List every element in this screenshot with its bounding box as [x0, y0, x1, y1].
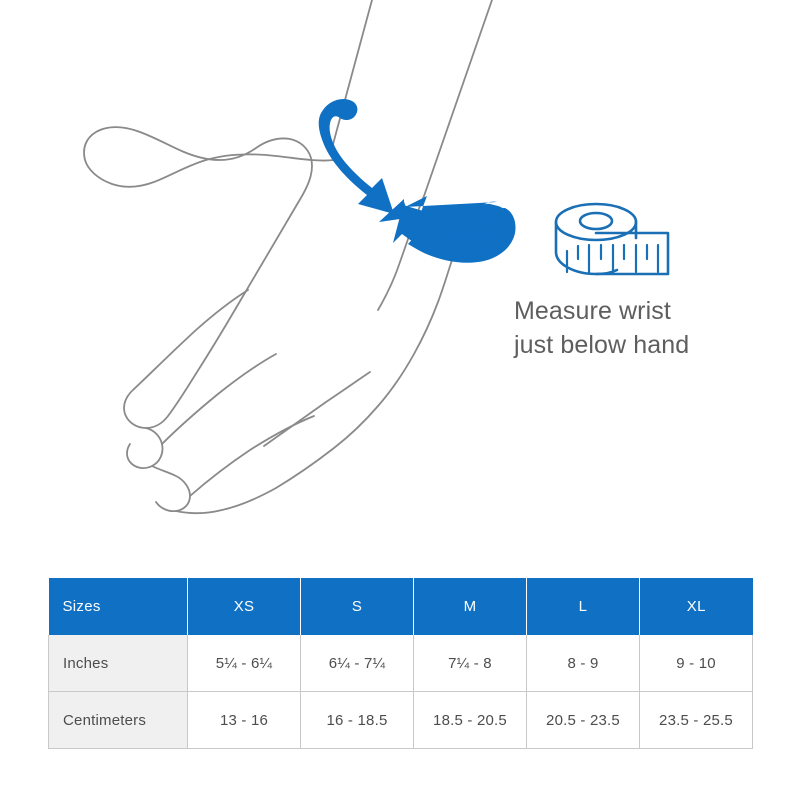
- wrist-measurement-illustration: [0, 0, 800, 560]
- forearm-outline: [331, 0, 492, 310]
- cell-inches-l: 8 - 9: [527, 635, 640, 692]
- size-table: Sizes XS S M L XL Inches 5¼ - 6¼ 6¼ - 7¼…: [48, 578, 753, 749]
- illustration-svg: [0, 0, 800, 560]
- cell-cm-xl: 23.5 - 25.5: [640, 692, 753, 749]
- cell-cm-l: 20.5 - 23.5: [527, 692, 640, 749]
- cell-inches-s: 6¼ - 7¼: [301, 635, 414, 692]
- table-row: Centimeters 13 - 16 16 - 18.5 18.5 - 20.…: [49, 692, 753, 749]
- table-header-row: Sizes XS S M L XL: [49, 578, 753, 635]
- table-row: Inches 5¼ - 6¼ 6¼ - 7¼ 7¼ - 8 8 - 9 9 - …: [49, 635, 753, 692]
- size-chart-page: Measure wrist just below hand Sizes XS S…: [0, 0, 800, 800]
- header-cell-xl: XL: [640, 578, 753, 635]
- row-label-inches: Inches: [49, 635, 188, 692]
- cell-cm-xs: 13 - 16: [188, 692, 301, 749]
- measure-instruction-caption: Measure wrist just below hand: [514, 294, 784, 362]
- header-cell-xs: XS: [188, 578, 301, 635]
- caption-line-1: Measure wrist: [514, 294, 784, 328]
- curved-arrow-up-left-icon: [379, 196, 516, 263]
- header-cell-l: L: [527, 578, 640, 635]
- size-table-head: Sizes XS S M L XL: [49, 578, 753, 635]
- hand-outline: [84, 127, 466, 513]
- header-cell-sizes: Sizes: [49, 578, 188, 635]
- tape-measure-icon: [556, 204, 668, 274]
- header-cell-s: S: [301, 578, 414, 635]
- row-label-centimeters: Centimeters: [49, 692, 188, 749]
- cell-inches-m: 7¼ - 8: [414, 635, 527, 692]
- caption-line-2: just below hand: [514, 328, 784, 362]
- cell-inches-xl: 9 - 10: [640, 635, 753, 692]
- cell-cm-m: 18.5 - 20.5: [414, 692, 527, 749]
- size-table-container: Sizes XS S M L XL Inches 5¼ - 6¼ 6¼ - 7¼…: [48, 578, 752, 749]
- size-table-body: Inches 5¼ - 6¼ 6¼ - 7¼ 7¼ - 8 8 - 9 9 - …: [49, 635, 753, 749]
- cell-cm-s: 16 - 18.5: [301, 692, 414, 749]
- cell-inches-xs: 5¼ - 6¼: [188, 635, 301, 692]
- header-cell-m: M: [414, 578, 527, 635]
- curved-arrow-down-right-icon: [319, 99, 394, 214]
